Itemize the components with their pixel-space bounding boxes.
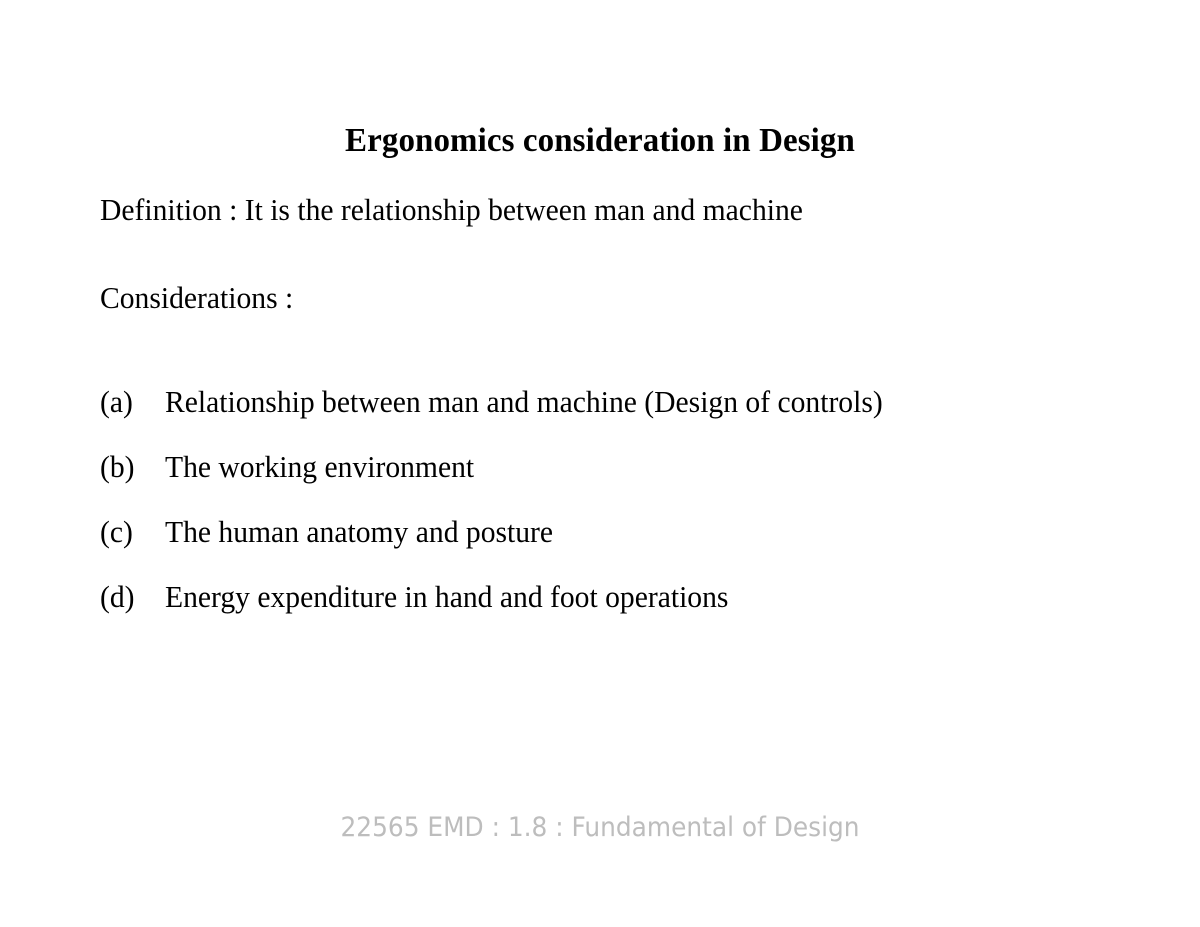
definition-line: Definition : It is the relationship betw… — [100, 193, 1074, 227]
list-item-label: Energy expenditure in hand and foot oper… — [165, 580, 728, 614]
slide-canvas: Ergonomics consideration in Design Defin… — [0, 0, 1200, 927]
slide-body: Definition : It is the relationship betw… — [100, 193, 1120, 315]
list-item: (c) The human anatomy and posture — [100, 515, 1120, 549]
list-item-marker: (a) — [100, 385, 162, 419]
list-item-marker: (b) — [100, 450, 162, 484]
list-item: (b) The working environment — [100, 450, 1120, 484]
slide-footer: 22565 EMD : 1.8 : Fundamental of Design — [48, 808, 1152, 848]
list-item-marker: (d) — [100, 580, 162, 614]
list-item-label: The human anatomy and posture — [165, 515, 553, 549]
considerations-list: (a) Relationship between man and machine… — [100, 385, 1120, 614]
page-title: Ergonomics consideration in Design — [18, 119, 1182, 163]
considerations-label: Considerations : — [100, 281, 1074, 315]
list-item-label: Relationship between man and machine (De… — [165, 385, 883, 419]
list-item: (a) Relationship between man and machine… — [100, 385, 1120, 419]
list-item-marker: (c) — [100, 515, 162, 549]
list-item: (d) Energy expenditure in hand and foot … — [100, 580, 1120, 614]
list-item-label: The working environment — [165, 450, 474, 484]
